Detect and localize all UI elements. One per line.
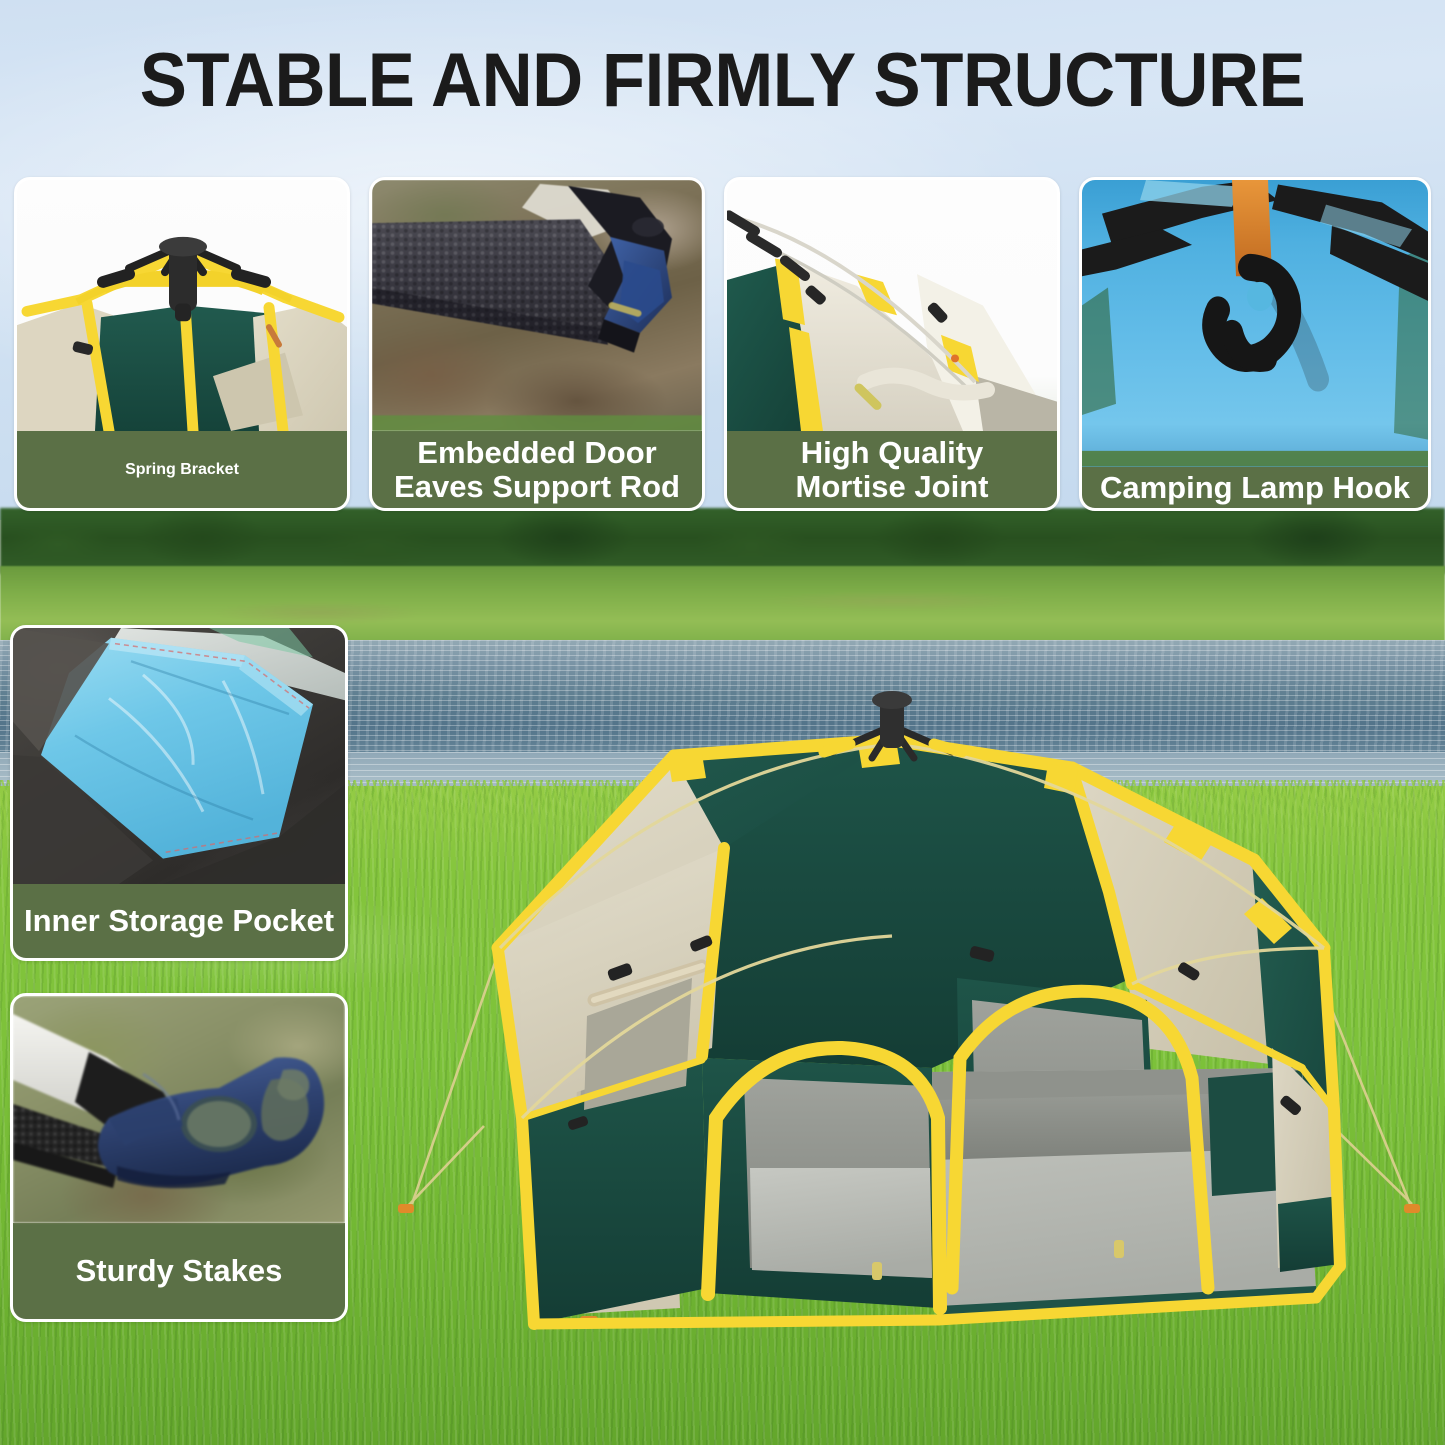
feature-label-spring-bracket: Spring Bracket bbox=[17, 431, 347, 508]
feature-card-high-quality-mortise-joint[interactable]: High Quality Mortise Joint bbox=[724, 177, 1060, 511]
feature-card-sturdy-stakes[interactable]: Sturdy Stakes bbox=[10, 993, 348, 1322]
feature-label-line: Sturdy Stakes bbox=[76, 1254, 283, 1287]
feature-card-inner-storage-pocket[interactable]: Inner Storage Pocket bbox=[10, 625, 348, 961]
feature-label-line: Spring Bracket bbox=[125, 461, 239, 478]
feature-card-embedded-door-eaves-support-rod[interactable]: Embedded Door Eaves Support Rod bbox=[369, 177, 705, 511]
tent-top-hub-photo bbox=[17, 180, 347, 431]
feature-label-line: Embedded Door bbox=[394, 436, 680, 469]
webbing-strap-buckle-photo bbox=[372, 180, 702, 431]
feature-label-inner-storage-pocket: Inner Storage Pocket bbox=[13, 884, 345, 958]
feature-label-line: Eaves Support Rod bbox=[394, 470, 680, 503]
feature-label-high-quality-mortise-joint: High Quality Mortise Joint bbox=[727, 431, 1057, 508]
feature-label-camping-lamp-hook: Camping Lamp Hook bbox=[1082, 467, 1428, 508]
feature-label-embedded-door-eaves-support-rod: Embedded Door Eaves Support Rod bbox=[372, 431, 702, 508]
feature-label-sturdy-stakes: Sturdy Stakes bbox=[13, 1223, 345, 1319]
tent-panel-joint-photo bbox=[727, 180, 1057, 431]
feature-label-line: Mortise Joint bbox=[796, 470, 989, 503]
storage-pocket-photo bbox=[13, 628, 345, 884]
feature-card-camping-lamp-hook[interactable]: Camping Lamp Hook bbox=[1079, 177, 1431, 511]
lamp-hook-photo bbox=[1082, 180, 1428, 467]
feature-label-line: Camping Lamp Hook bbox=[1100, 471, 1410, 504]
feature-label-line: High Quality bbox=[796, 436, 989, 469]
treeline-band bbox=[0, 508, 1445, 574]
feature-card-spring-bracket[interactable]: Spring Bracket bbox=[14, 177, 350, 511]
stake-photo bbox=[13, 996, 345, 1223]
page-title: STABLE AND FIRMLY STRUCTURE bbox=[51, 30, 1395, 130]
feature-label-line: Inner Storage Pocket bbox=[24, 904, 334, 937]
main-tent-photo bbox=[372, 648, 1445, 1378]
